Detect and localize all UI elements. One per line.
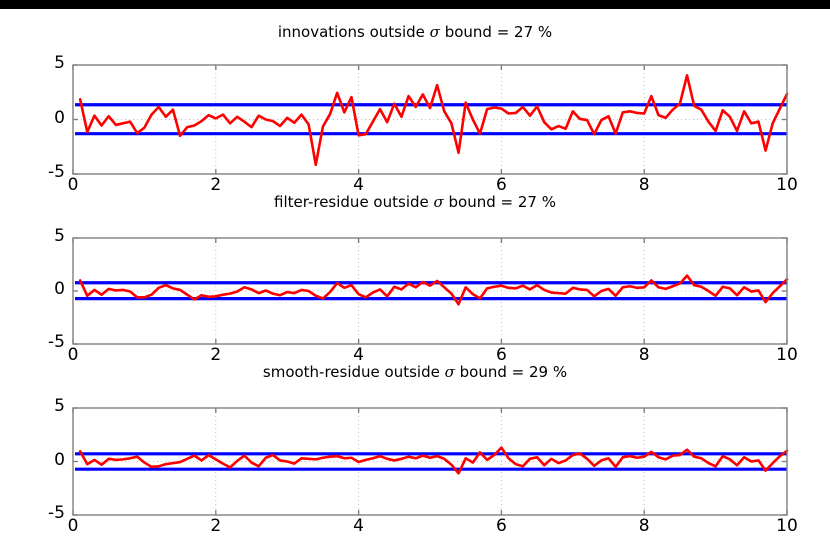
plot-panel-innovations: innovations outside σ bound = 27 % 50-50… xyxy=(0,9,830,205)
x-tick-label: 4 xyxy=(329,516,389,536)
figure-canvas: innovations outside σ bound = 27 % 50-50… xyxy=(0,0,830,554)
y-tick-label: 5 xyxy=(13,226,65,246)
y-tick-label: 5 xyxy=(13,53,65,73)
y-tick-label: 0 xyxy=(13,108,65,128)
plot-panel-filter-residue: filter-residue outside σ bound = 27 % 50… xyxy=(0,179,830,375)
y-tick-label: 5 xyxy=(13,396,65,416)
x-tick-label: 8 xyxy=(614,516,674,536)
x-tick-label: 10 xyxy=(757,516,817,536)
y-tick-label: 0 xyxy=(13,450,65,470)
x-tick-label: 6 xyxy=(471,516,531,536)
y-tick-label: 0 xyxy=(13,279,65,299)
plot-panel-smooth-residue: smooth-residue outside σ bound = 29 % 50… xyxy=(0,349,830,554)
plot-axes-filter-residue xyxy=(0,179,830,375)
top-black-bar xyxy=(0,0,830,9)
plot-axes-innovations xyxy=(0,9,830,205)
plot-axes-smooth-residue xyxy=(0,349,830,554)
data-series-line xyxy=(80,75,787,164)
x-tick-label: 2 xyxy=(186,516,246,536)
x-tick-label: 0 xyxy=(43,516,103,536)
